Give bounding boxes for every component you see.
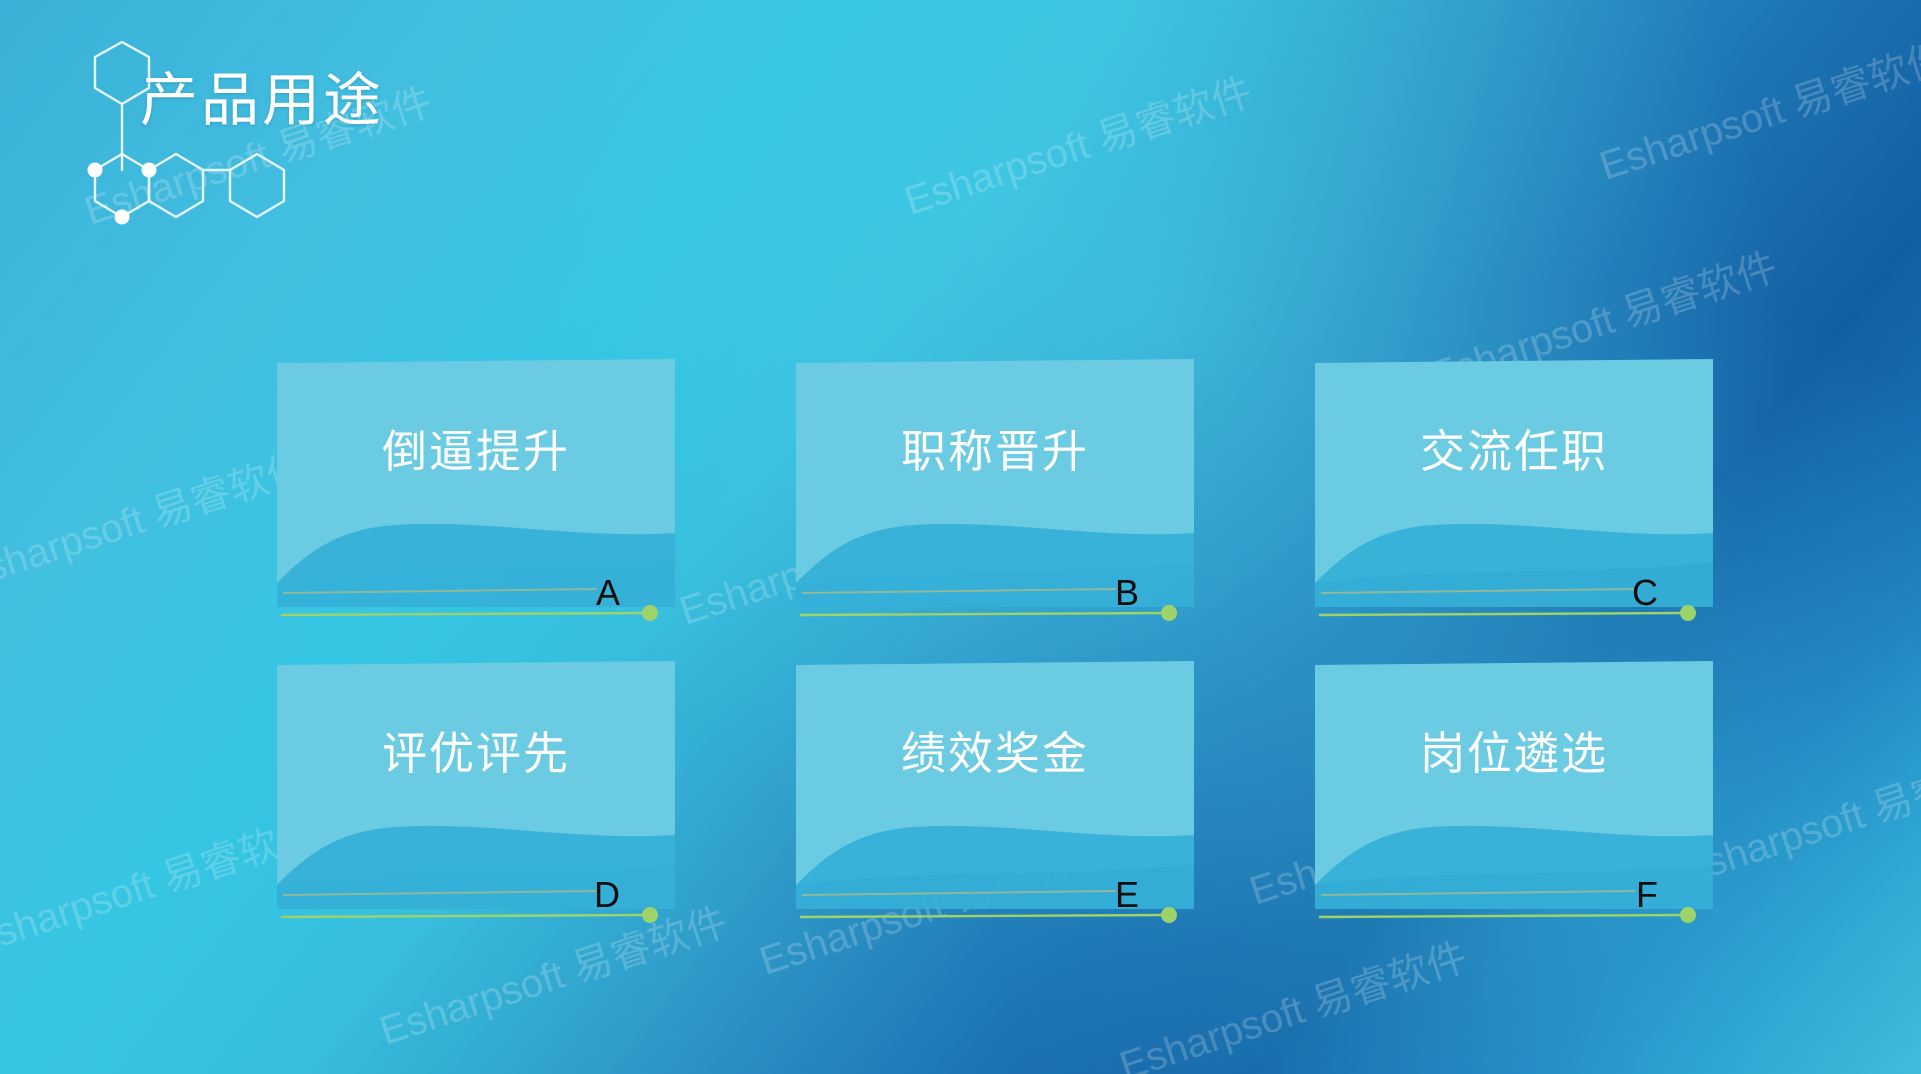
watermark-text: Esharpsoft 易睿软件 [896, 59, 1259, 226]
watermark-text: Esharpsoft 易睿软件 [0, 434, 314, 601]
slide-canvas: Esharpsoft 易睿软件 Esharpsoft 易睿软件 Esharpso… [0, 0, 1921, 1074]
purpose-card[interactable]: 评优评先 D [275, 659, 677, 937]
purpose-card[interactable]: 职称晋升 B [794, 357, 1196, 635]
purpose-card[interactable]: 交流任职 C [1313, 357, 1715, 635]
hexagon-molecule-icon [48, 22, 288, 257]
slide-header: 产品用途 [0, 0, 700, 270]
purpose-card[interactable]: 绩效奖金 E [794, 659, 1196, 937]
page-title: 产品用途 [140, 72, 384, 130]
watermark-text: Esharpsoft 易睿软件 [1591, 24, 1921, 191]
purpose-card-grid: 倒逼提升 A 职称晋升 B 交流任职 C [275, 357, 1715, 961]
purpose-card[interactable]: 岗位遴选 F [1313, 659, 1715, 937]
purpose-card[interactable]: 倒逼提升 A [275, 357, 677, 635]
